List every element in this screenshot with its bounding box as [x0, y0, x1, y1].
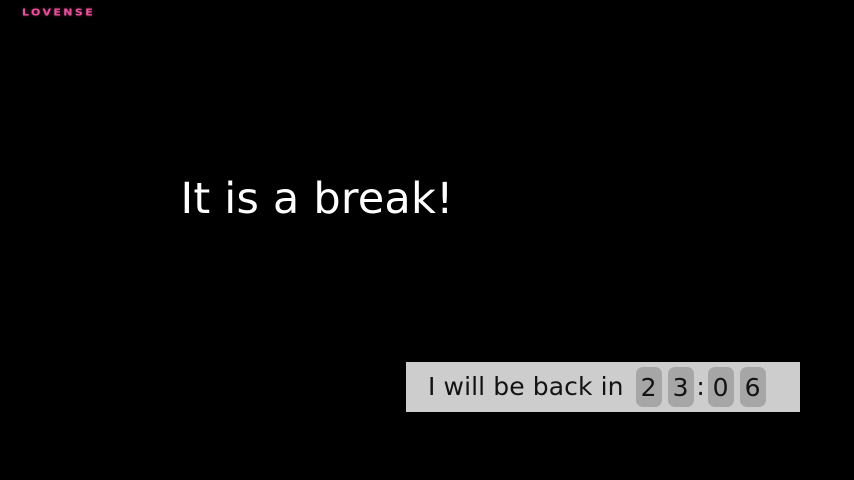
break-message-text: It is a break! — [0, 168, 634, 230]
countdown-timer: 2 3 : 0 6 — [636, 367, 768, 407]
countdown-minute-ones: 3 — [668, 367, 694, 407]
countdown-minute-tens: 2 — [636, 367, 662, 407]
countdown-label: I will be back in — [428, 372, 624, 402]
stream-overlay-screen: LOVENSE It is a break! I will be back in… — [0, 0, 854, 480]
countdown-second-tens: 0 — [708, 367, 734, 407]
countdown-panel: I will be back in 2 3 : 0 6 — [406, 362, 800, 412]
lovense-logo: LOVENSE — [22, 3, 95, 21]
lovense-logo-text: LOVENSE — [22, 6, 95, 18]
countdown-colon-separator: : — [696, 372, 706, 402]
countdown-second-ones: 6 — [740, 367, 766, 407]
